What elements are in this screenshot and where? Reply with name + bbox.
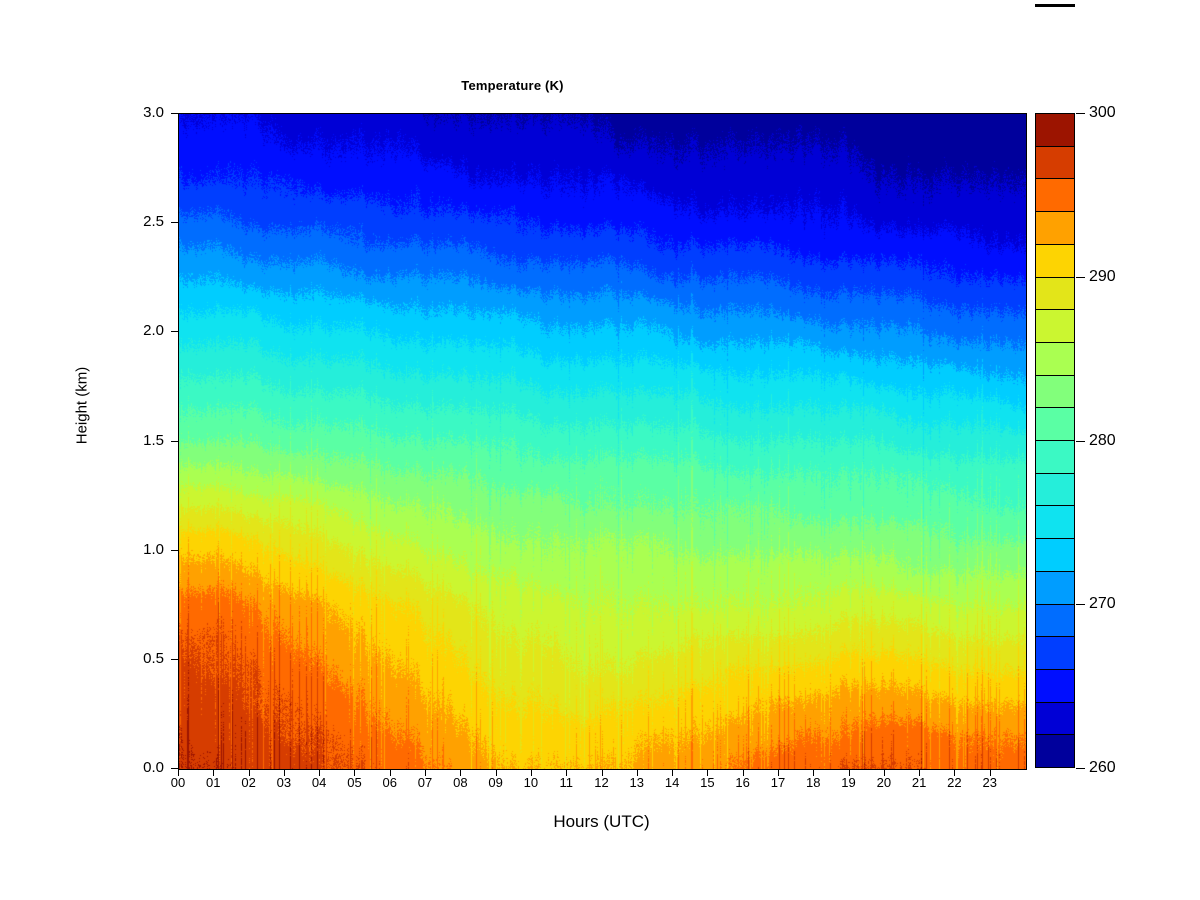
colorbar-tick-labels: 300290280270260 — [1076, 113, 1196, 768]
x-tick-label: 12 — [582, 775, 622, 790]
x-tick-label: 19 — [829, 775, 869, 790]
colorbar-band — [1036, 441, 1074, 474]
x-tick-label: 18 — [793, 775, 833, 790]
y-axis-tick-marks — [178, 113, 179, 768]
colorbar-band — [1036, 376, 1074, 409]
colorbar-band — [1036, 735, 1074, 767]
colorbar — [1035, 113, 1075, 768]
y-tick-label: 0.0 — [120, 759, 164, 776]
y-tick-mark — [171, 768, 178, 769]
plot-area — [178, 113, 1027, 770]
x-tick-label: 13 — [617, 775, 657, 790]
y-tick-mark — [171, 550, 178, 551]
y-axis-title: Height (km) — [74, 306, 91, 506]
y-tick-mark — [171, 659, 178, 660]
colorbar-tick-mark — [1076, 441, 1085, 442]
y-tick-label: 0.5 — [120, 650, 164, 667]
x-tick-label: 14 — [652, 775, 692, 790]
x-tick-label: 15 — [687, 775, 727, 790]
chart-canvas: Temperature (K) 0.00.51.01.52.02.53.0 He… — [0, 0, 1200, 900]
colorbar-band — [1036, 670, 1074, 703]
colorbar-tick-label: 280 — [1089, 432, 1116, 450]
y-tick-mark — [171, 222, 178, 223]
colorbar-band — [1036, 637, 1074, 670]
x-tick-label: 02 — [229, 775, 269, 790]
x-tick-label: 23 — [970, 775, 1010, 790]
x-tick-label: 04 — [299, 775, 339, 790]
x-tick-label: 16 — [723, 775, 763, 790]
y-tick-label: 3.0 — [120, 104, 164, 121]
colorbar-band — [1036, 147, 1074, 180]
x-axis: 0001020304050607080910111213141516171819… — [178, 769, 1025, 799]
colorbar-tick-mark — [1076, 113, 1085, 114]
colorbar-band — [1036, 474, 1074, 507]
colorbar-band — [1036, 212, 1074, 245]
y-tick-mark — [171, 113, 178, 114]
top-right-artifact — [1035, 4, 1075, 7]
x-tick-label: 06 — [370, 775, 410, 790]
colorbar-band — [1036, 506, 1074, 539]
y-tick-mark — [171, 331, 178, 332]
x-tick-label: 07 — [405, 775, 445, 790]
x-tick-label: 03 — [264, 775, 304, 790]
colorbar-band — [1036, 245, 1074, 278]
colorbar-band — [1036, 343, 1074, 376]
colorbar-band — [1036, 572, 1074, 605]
colorbar-tick-label: 270 — [1089, 595, 1116, 613]
x-tick-label: 17 — [758, 775, 798, 790]
colorbar-band — [1036, 605, 1074, 638]
y-tick-label: 2.5 — [120, 213, 164, 230]
x-axis-title: Hours (UTC) — [178, 812, 1025, 832]
colorbar-band — [1036, 310, 1074, 343]
colorbar-tick-label: 290 — [1089, 268, 1116, 286]
x-tick-label: 11 — [546, 775, 586, 790]
colorbar-band — [1036, 539, 1074, 572]
x-tick-label: 01 — [193, 775, 233, 790]
x-tick-label: 08 — [440, 775, 480, 790]
y-tick-label: 1.5 — [120, 432, 164, 449]
y-axis-tick-labels: 0.00.51.01.52.02.53.0 — [118, 113, 164, 768]
colorbar-tick-mark — [1076, 768, 1085, 769]
colorbar-band — [1036, 179, 1074, 212]
colorbar-band — [1036, 703, 1074, 736]
colorbar-band — [1036, 114, 1074, 147]
y-tick-label: 2.0 — [120, 322, 164, 339]
chart-title: Temperature (K) — [0, 78, 1025, 93]
colorbar-band — [1036, 408, 1074, 441]
x-tick-label: 10 — [511, 775, 551, 790]
temperature-heatmap — [179, 114, 1026, 769]
y-tick-label: 1.0 — [120, 541, 164, 558]
colorbar-band — [1036, 278, 1074, 311]
colorbar-tick-label: 260 — [1089, 759, 1116, 777]
x-tick-label: 09 — [476, 775, 516, 790]
x-tick-label: 22 — [934, 775, 974, 790]
x-tick-label: 20 — [864, 775, 904, 790]
x-tick-label: 21 — [899, 775, 939, 790]
colorbar-tick-mark — [1076, 277, 1085, 278]
y-tick-mark — [171, 441, 178, 442]
x-tick-label: 00 — [158, 775, 198, 790]
colorbar-tick-label: 300 — [1089, 104, 1116, 122]
colorbar-tick-mark — [1076, 604, 1085, 605]
x-tick-label: 05 — [334, 775, 374, 790]
